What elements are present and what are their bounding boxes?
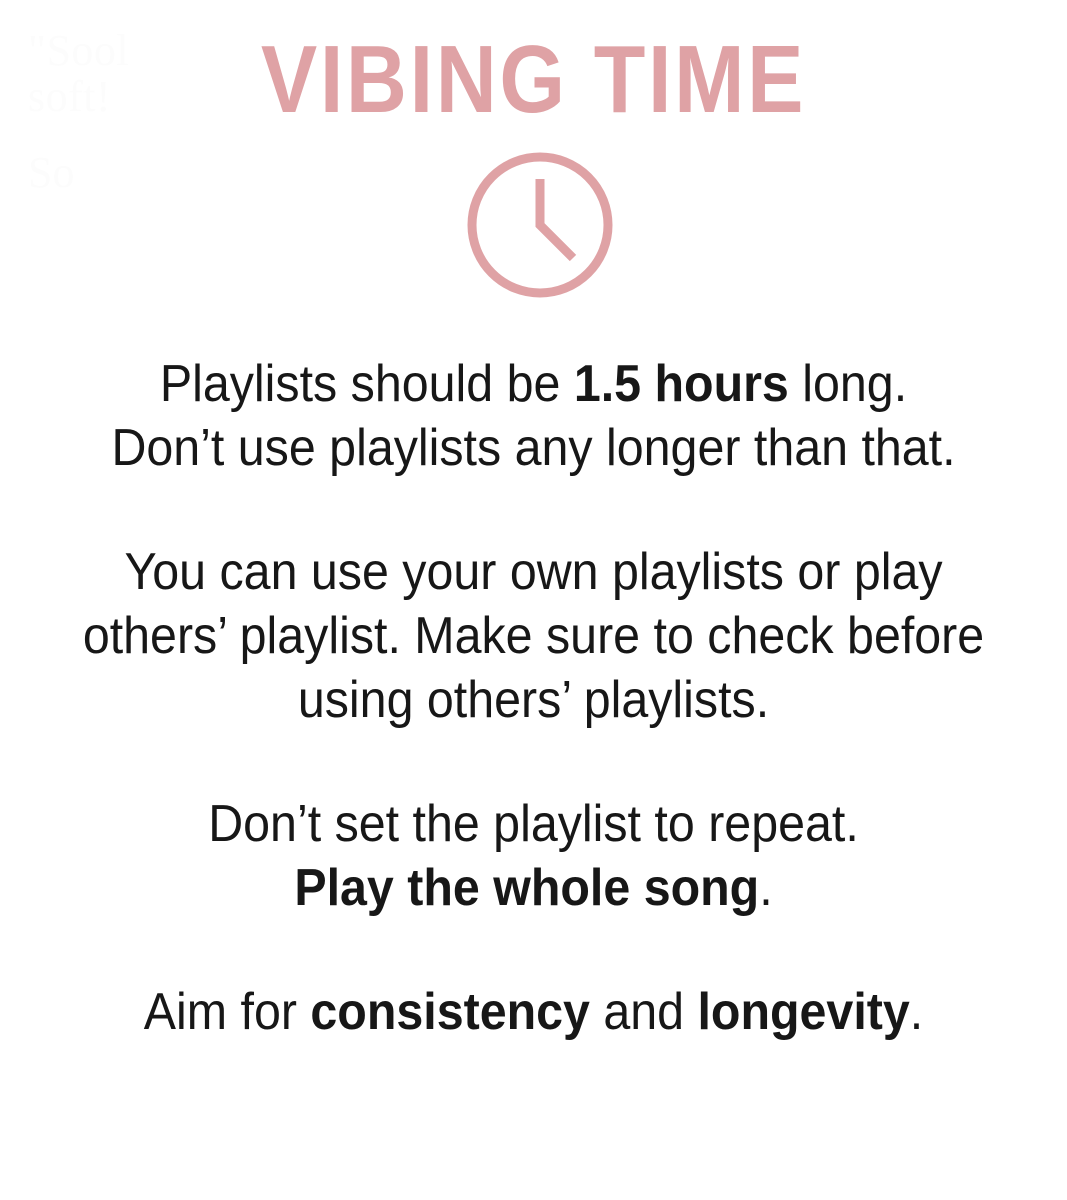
paragraph-playlist-goal: Aim for consistency and longevity.	[37, 980, 1029, 1044]
text-line: Don’t use playlists any longer than that…	[37, 416, 1029, 480]
body-copy: Playlists should be 1.5 hours long.Don’t…	[0, 352, 1067, 1044]
plain-text: others’ playlist. Make sure to check bef…	[83, 607, 984, 665]
paragraph-playlist-ownership: You can use your own playlists or playot…	[37, 540, 1029, 732]
plain-text: using others’ playlists.	[298, 671, 769, 729]
plain-text: and	[590, 983, 698, 1041]
page-title: VIBING TIME	[64, 32, 1003, 128]
watermark-ghost-text-secondary: So	[28, 150, 74, 196]
plain-text: Don’t use playlists any longer than that…	[111, 419, 955, 477]
poster-canvas: "Sool soft! So VIBING TIME Playlists sho…	[0, 0, 1067, 1200]
plain-text: .	[759, 859, 772, 917]
emphasis-text: Play the whole song	[294, 859, 759, 917]
text-line: Aim for consistency and longevity.	[37, 980, 1029, 1044]
emphasis-text: 1.5 hours	[574, 355, 789, 413]
clock-icon	[463, 148, 617, 302]
paragraph-playlist-length: Playlists should be 1.5 hours long.Don’t…	[37, 352, 1029, 480]
plain-text: Don’t set the playlist to repeat.	[208, 795, 859, 853]
plain-text: long.	[789, 355, 907, 413]
text-line: Play the whole song.	[37, 856, 1029, 920]
plain-text: Playlists should be	[160, 355, 574, 413]
text-line: Playlists should be 1.5 hours long.	[37, 352, 1029, 416]
emphasis-text: consistency	[310, 983, 590, 1041]
paragraph-playlist-repeat: Don’t set the playlist to repeat.Play th…	[37, 792, 1029, 920]
emphasis-text: longevity	[697, 983, 909, 1041]
plain-text: You can use your own playlists or play	[124, 543, 942, 601]
plain-text: Aim for	[144, 983, 311, 1041]
plain-text: .	[910, 983, 923, 1041]
text-line: Don’t set the playlist to repeat.	[37, 792, 1029, 856]
text-line: others’ playlist. Make sure to check bef…	[37, 604, 1029, 668]
text-line: using others’ playlists.	[37, 668, 1029, 732]
text-line: You can use your own playlists or play	[37, 540, 1029, 604]
